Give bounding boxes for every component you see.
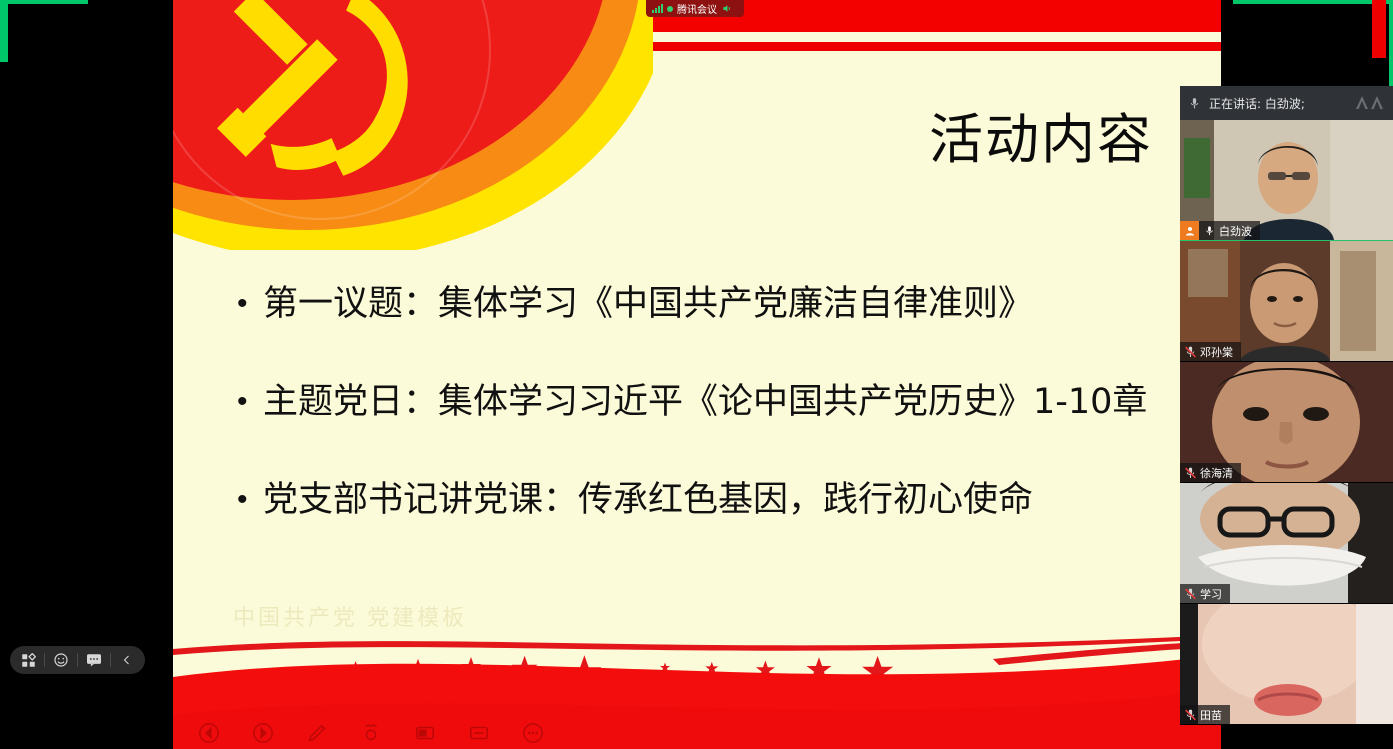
slide-bullet-text: 党支部书记讲党课：传承红色基因，践行初心使命 [263,478,1033,522]
chat-button[interactable] [82,648,106,672]
bullet-marker-icon: • [229,380,263,424]
participant-name: 学习 [1200,586,1222,602]
more-options-icon [522,722,544,744]
presenter-view-icon [414,722,436,744]
toolbar-divider [44,653,45,667]
emoji-icon [53,652,69,668]
active-speaker-header: 正在讲话: 白劲波; [1180,86,1393,120]
participant-name: 徐海清 [1200,465,1233,481]
green-status-dot-icon [667,6,673,12]
chevron-left-icon [121,654,133,666]
toolbar-divider [77,653,78,667]
annotation-pen-button[interactable] [303,719,331,747]
chat-bubble-icon [86,653,102,667]
microphone-icon [1199,221,1219,240]
microphone-muted-icon [1180,342,1200,361]
bullet-marker-icon: • [229,282,263,326]
laser-pointer-button[interactable] [357,719,385,747]
slide-edge-sliver [1372,0,1386,58]
slide-bullet-item: • 主题党日：集体学习习近平《论中国共产党历史》1-10章 [229,380,1209,424]
screen-share-frame-left-top [0,0,88,4]
microphone-muted-icon [1180,705,1200,724]
laser-pointer-icon [360,722,382,744]
meeting-app-name: 腾讯会议 [677,1,717,16]
participant-name: 田苗 [1200,707,1222,723]
signal-bars-icon [652,4,663,13]
meeting-screen-share-view: 活动内容 • 第一议题：集体学习《中国共产党廉洁自律准则》 • 主题党日：集体学… [0,0,1393,749]
participant-name-tag: 田苗 [1180,705,1230,724]
pen-icon [306,722,328,744]
microphone-muted-icon [1180,584,1200,603]
participant-tile[interactable]: 学习 [1180,483,1393,604]
participant-tile[interactable]: 白劲波 [1180,120,1393,241]
participant-name-tag: 白劲波 [1180,221,1260,240]
slide-title: 活动内容 [929,95,1153,174]
microphone-icon [1188,95,1201,112]
floating-toolbar[interactable] [10,646,145,674]
slide-emblem-corner [173,0,653,250]
participant-name-tag: 邓孙棠 [1180,342,1241,361]
slide-bullet-list: • 第一议题：集体学习《中国共产党廉洁自律准则》 • 主题党日：集体学习习近平《… [229,282,1209,576]
apps-grid-icon [21,653,36,668]
reactions-button[interactable] [49,648,73,672]
participant-panel: 正在讲话: 白劲波; [1180,86,1393,723]
screen-share-frame-right [1389,0,1393,92]
collapse-button[interactable] [115,648,139,672]
previous-slide-button[interactable] [195,719,223,747]
microphone-muted-icon [1180,463,1200,482]
slide-bullet-item: • 党支部书记讲党课：传承红色基因，践行初心使命 [229,478,1209,522]
next-slide-icon [252,722,274,744]
previous-slide-icon [198,722,220,744]
speaker-icon [721,3,733,14]
participant-tile[interactable]: 田苗 [1180,604,1393,725]
slide-bullet-item: • 第一议题：集体学习《中国共产党廉洁自律准则》 [229,282,1209,326]
participant-name: 白劲波 [1219,223,1252,239]
audio-waveform-icon [1356,96,1383,109]
bullet-marker-icon: • [229,478,263,522]
participant-tile[interactable]: 徐海清 [1180,362,1393,483]
hammer-and-sickle-icon [175,0,465,228]
participant-name-tag: 徐海清 [1180,463,1241,482]
active-speaker-label: 正在讲话: 白劲波; [1209,95,1305,112]
toolbar-divider [110,653,111,667]
blank-screen-button[interactable] [465,719,493,747]
apps-button[interactable] [16,648,40,672]
participant-name: 邓孙棠 [1200,344,1233,360]
slide-bullet-text: 第一议题：集体学习《中国共产党廉洁自律准则》 [263,282,1033,326]
participant-name-tag: 学习 [1180,584,1230,603]
presenter-view-button[interactable] [411,719,439,747]
screen-share-frame-left [0,0,8,62]
more-options-button[interactable] [519,719,547,747]
shared-slide: 活动内容 • 第一议题：集体学习《中国共产党廉洁自律准则》 • 主题党日：集体学… [173,0,1221,749]
slide-bullet-text: 主题党日：集体学习习近平《论中国共产党历史》1-10章 [263,380,1147,424]
meeting-status-pill[interactable]: 腾讯会议 [646,0,744,17]
participant-tile[interactable]: 邓孙棠 [1180,241,1393,362]
host-avatar-icon [1180,221,1199,240]
blank-screen-icon [468,722,490,744]
screen-share-frame-right-top [1233,0,1393,4]
slideshow-control-bar[interactable] [195,719,547,747]
next-slide-button[interactable] [249,719,277,747]
